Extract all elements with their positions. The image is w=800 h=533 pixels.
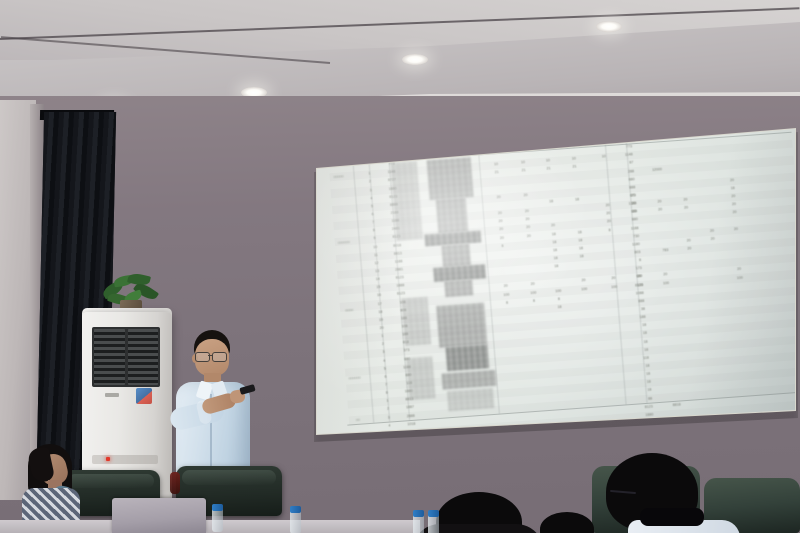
redaction-block [447, 388, 494, 411]
power-led-icon [106, 457, 110, 461]
slide-title: □□□□□□□□□□ [469, 125, 609, 140]
table-cell: 20 [497, 235, 507, 240]
row-code: 1888 [386, 283, 404, 288]
row-index: 1 [381, 399, 393, 404]
table-cell: 18 [551, 256, 561, 261]
row-index: 2 [364, 179, 376, 184]
projected-slide: □□□□□□□□□□ □□□□ □□□□ □□□□ □□□□□ □□□□□□ □… [318, 98, 800, 432]
row-code: 1887 [396, 405, 414, 410]
row-total: 288 [616, 169, 634, 174]
table-cell: 20 [728, 194, 738, 199]
laptop[interactable] [112, 498, 206, 533]
table-cell: 20 [660, 272, 670, 277]
table-cell: 20 [521, 193, 531, 198]
row-index: 2 [377, 342, 389, 347]
row-index: 1 [363, 171, 375, 176]
projection-screen: □□□□□□□□□□ □□□□ □□□□ □□□□ □□□□□ □□□□□□ □… [312, 126, 798, 446]
column-header: □□□□□ [561, 138, 572, 143]
row-index: 16 [373, 293, 385, 298]
table-cell: 20 [578, 278, 588, 283]
row-total: 1088 [626, 291, 644, 296]
table-cell: 18 [546, 199, 556, 204]
row-remark: 12000 [640, 167, 662, 173]
table-cell: 100 [661, 280, 671, 285]
conference-room-photo: □□□□□□□□□□ □□□□ □□□□ □□□□ □□□□□ □□□□□□ □… [0, 0, 800, 533]
column-header: □□□□□□ [735, 125, 748, 130]
redaction-block [445, 344, 489, 371]
person-neck-shadow [640, 508, 704, 526]
conference-table [0, 520, 420, 533]
row-index: 13 [371, 269, 383, 274]
row-total: 1180 [622, 242, 640, 247]
row-total: 18 [628, 323, 646, 328]
redaction-block [427, 157, 474, 200]
row-total: 880 [617, 177, 635, 182]
table-cell: 21 [569, 165, 579, 170]
row-total: 188 [628, 315, 646, 320]
code-column-header: □□ [370, 158, 375, 162]
row-remark: 8818 [659, 402, 681, 408]
row-code: 2881 [385, 267, 403, 272]
table-cell: 20 [731, 226, 741, 231]
row-code: 8123 [387, 292, 405, 297]
column-header: □□□□ [506, 142, 515, 147]
row-total: 10120 [637, 429, 655, 434]
row-total: 18 [633, 388, 651, 393]
table-cell: 10 [543, 158, 553, 163]
row-index: 9 [368, 236, 380, 241]
row-total: 730 [621, 234, 639, 239]
row-total: 8123 [635, 404, 653, 409]
row-index: 17 [374, 301, 386, 306]
row-total: 773 [614, 144, 632, 149]
row-total: 888 [619, 209, 637, 214]
row-code: 8018 [383, 243, 401, 248]
row-total: 18 [629, 331, 647, 336]
table-cell: 10 [518, 160, 528, 165]
row-index: 15 [372, 285, 384, 290]
redaction-block [401, 297, 431, 347]
row-index: 8 [368, 228, 380, 233]
table-cell: 20 [608, 276, 618, 281]
row-index: 7 [367, 220, 379, 225]
row-total: 18 [630, 339, 648, 344]
row-remark: 8818 [661, 426, 683, 432]
table-cell: 10 [569, 157, 579, 162]
row-index: 20 [376, 325, 388, 330]
row-index: 8 [381, 390, 393, 395]
table-cell: 20 [603, 203, 613, 208]
row-total: 1188 [620, 226, 638, 231]
table-cell: 20 [495, 211, 505, 216]
row-group-header: □□□□ [328, 161, 337, 166]
row-index: 1 [376, 334, 388, 339]
row-total: 18 [631, 364, 649, 369]
table-cell: 18 [576, 246, 586, 251]
row-index: 4 [383, 423, 395, 428]
column-header: □□□□□□ [591, 135, 604, 140]
table-cell: 8 [497, 243, 507, 248]
grille-louver [94, 329, 125, 385]
row-total: 888 [626, 299, 644, 304]
office-chair-highlight [182, 470, 276, 485]
air-conditioner-logo [105, 393, 119, 397]
table-cell: 20 [496, 227, 506, 232]
table-cell: 18 [575, 238, 585, 243]
row-index: 5 [384, 431, 396, 436]
table-cell: 18 [575, 230, 585, 235]
row-total: 87 [615, 161, 633, 166]
glasses-bridge-icon [208, 355, 213, 356]
bottle-cap [413, 510, 424, 517]
bottle-cap [212, 504, 223, 511]
table-cell: 8 [605, 227, 615, 232]
row-index: 6 [385, 439, 397, 444]
redaction-block [444, 279, 473, 297]
table-cell: 10 [599, 154, 609, 159]
table-cell: 20 [655, 207, 665, 212]
row-index: 10 [369, 244, 381, 249]
table-cell: 8 [502, 300, 512, 305]
row-total: 173 [624, 266, 642, 271]
row-index: 14 [372, 277, 384, 282]
table-cell: 20 [494, 195, 504, 200]
row-total: 38 [627, 307, 645, 312]
name-column-header: □□□ [424, 148, 431, 152]
column-header: □□□□□ [625, 133, 636, 138]
table-cell: 18 [728, 186, 738, 191]
table-cell: 8 [554, 296, 564, 301]
row-total: 18 [630, 347, 648, 352]
row-code: 8813 [384, 251, 402, 256]
row-total: 8123 [625, 282, 643, 287]
row-code: 2888 [397, 413, 415, 418]
table-cell: 100 [579, 286, 589, 291]
row-index: 18 [374, 309, 386, 314]
table-cell: 20 [654, 199, 664, 204]
table-cell: 20 [522, 217, 532, 222]
row-total: 803 [622, 250, 640, 255]
table-cell: 20 [522, 209, 532, 214]
row-index: 5 [366, 204, 378, 209]
row-total: 8 [623, 258, 641, 263]
row-code: 373 [391, 348, 409, 353]
row-index: 4 [378, 358, 390, 363]
table-cell: 20 [604, 219, 614, 224]
row-total: 1148 [615, 153, 633, 158]
column-header: □□□□□ [712, 127, 723, 132]
table-cell: 100 [735, 275, 745, 280]
table-cell: 20 [524, 233, 534, 238]
downlight-icon [596, 21, 622, 32]
table-cell: 18 [572, 197, 582, 202]
row-total: 1880 [635, 412, 653, 417]
table-cell: 18 [577, 254, 587, 259]
screen-surface: □□□□□□□□□□ □□□□ □□□□ □□□□ □□□□□ □□□□□□ □… [312, 126, 798, 446]
table-cell: 20 [501, 284, 511, 289]
row-index: 3 [365, 188, 377, 193]
table-cell: 100 [501, 292, 511, 297]
row-code: 1188 [384, 259, 402, 264]
table-cell: 20 [528, 282, 538, 287]
row-index: 3 [378, 350, 390, 355]
row-total: 1388 [619, 201, 637, 206]
row-total: 1180 [636, 420, 654, 425]
row-total: 88 [634, 396, 652, 401]
row-code: 1018 [397, 421, 415, 426]
table-cell: 20 [684, 246, 694, 251]
row-index: 12 [370, 261, 382, 266]
glasses-lens-left-icon [195, 352, 210, 362]
table-cell: 20 [603, 211, 613, 216]
row-index: 11 [370, 252, 382, 257]
air-conditioner-grille [92, 327, 160, 387]
table-cell: 20 [730, 210, 740, 215]
row-remark: 783 [646, 248, 668, 254]
table-cell: 18 [549, 240, 559, 245]
table-cell: 18 [549, 231, 559, 236]
row-total: 880 [620, 218, 638, 223]
table-cell: 20 [548, 223, 558, 228]
redaction-block [406, 356, 435, 400]
air-conditioner-badge-sticker [136, 388, 152, 404]
table-cell: 20 [681, 206, 691, 211]
redaction-block [436, 302, 487, 347]
row-index: 6 [367, 212, 379, 217]
downlight-icon [402, 54, 428, 65]
column-header: □□□□□ [688, 128, 699, 133]
table-cell: 20 [523, 225, 533, 230]
grille-louver [128, 329, 159, 385]
row-index: 4 [365, 196, 377, 201]
row-total: 888 [617, 185, 635, 190]
table-cell: 18 [551, 264, 561, 269]
row-index: 5 [379, 366, 391, 371]
table-cell: 20 [727, 178, 737, 183]
table-cell: 20 [708, 236, 718, 241]
table-cell: 21 [492, 170, 502, 175]
row-index: 19 [375, 317, 387, 322]
column-header: □□□□□□□ [651, 131, 666, 136]
bottle-cap [428, 510, 439, 517]
table-cell: 20 [707, 228, 717, 233]
row-index: 7 [380, 382, 392, 387]
row-code: 1138 [399, 438, 417, 443]
row-total: 18 [633, 380, 651, 385]
air-conditioner-control-panel[interactable] [92, 455, 158, 464]
row-code: 8123 [386, 275, 404, 280]
redaction-block [441, 243, 471, 267]
table-cell: 20 [729, 202, 739, 207]
bottle-cap [290, 506, 301, 513]
row-index: 2 [382, 407, 394, 412]
row-total: 873 [618, 193, 636, 198]
table-cell: 100 [553, 288, 563, 293]
table-cell: 21 [544, 167, 554, 172]
table-cell: 20 [734, 267, 744, 272]
row-total: 118 [631, 355, 649, 360]
table-cell: 18 [550, 248, 560, 253]
table-cell: 10 [491, 162, 501, 167]
row-index: 3 [383, 415, 395, 420]
table-cell: 20 [684, 238, 694, 243]
table-cell: 20 [680, 197, 690, 202]
row-index: 6 [379, 374, 391, 379]
chair-accent [170, 472, 180, 494]
table-cell: 8 [529, 298, 539, 303]
table-cell: 100 [609, 284, 619, 289]
table-cell: 20 [496, 219, 506, 224]
table-cell: 18 [554, 304, 564, 309]
row-total: 18 [632, 372, 650, 377]
glasses-lens-right-icon [212, 352, 227, 362]
row-total: 880 [624, 274, 642, 279]
table-cell: 21 [519, 168, 529, 173]
index-column-header: □□ [354, 159, 359, 163]
column-header: □□□□ [479, 144, 488, 149]
redaction-block [436, 197, 469, 233]
table-cell: 100 [528, 290, 538, 295]
column-header: □□□□ [535, 140, 544, 145]
